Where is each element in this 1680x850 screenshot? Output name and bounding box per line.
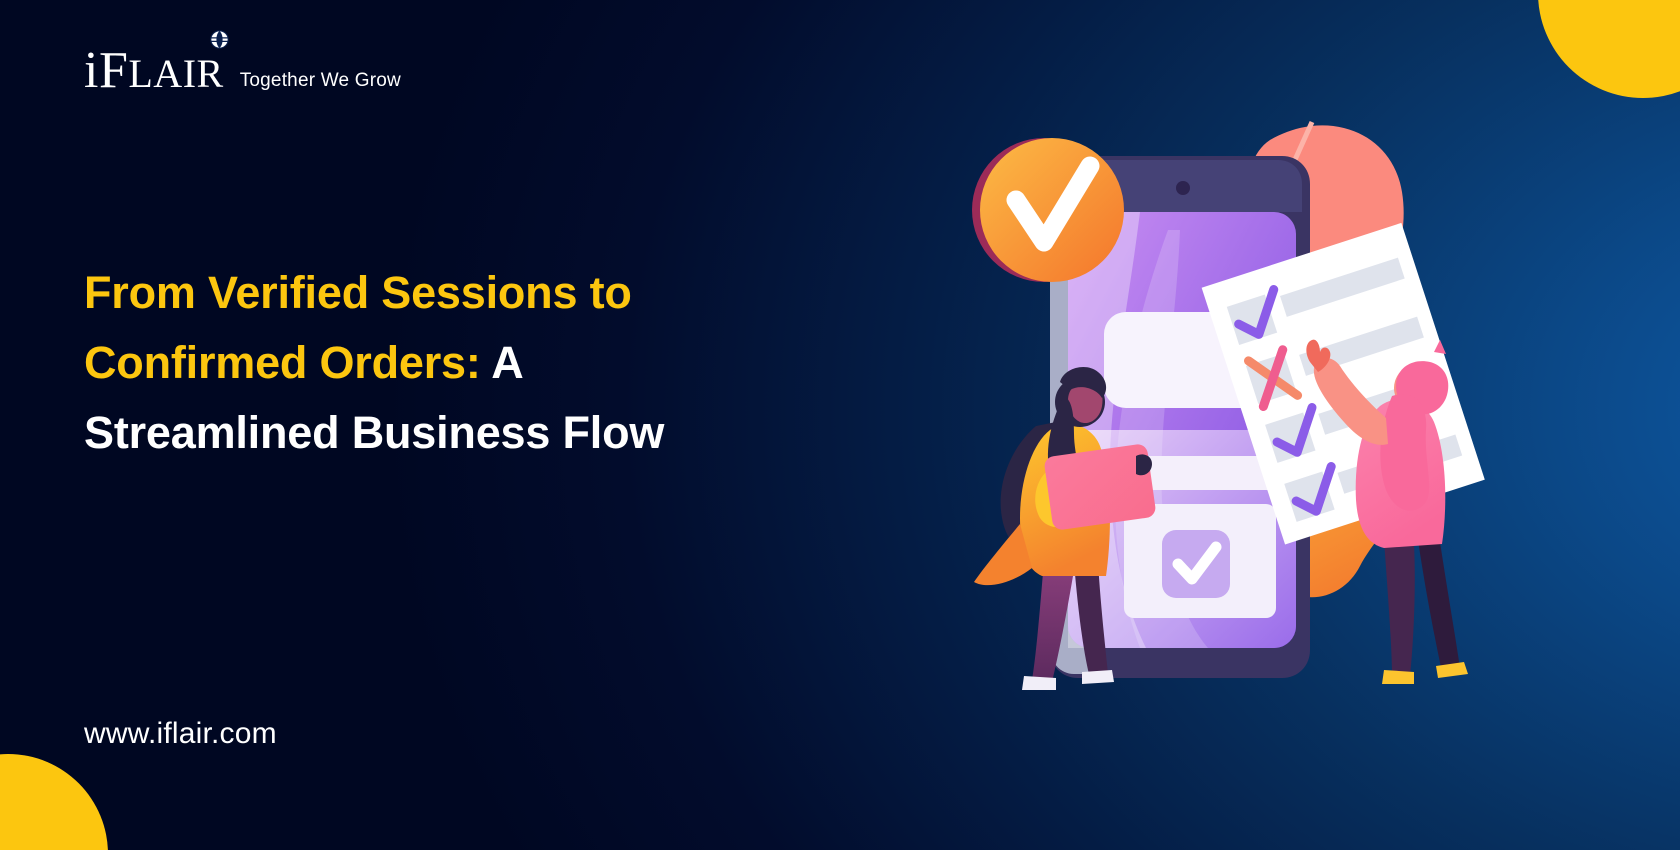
decor-circle-bottom-left [0, 754, 108, 850]
verified-badge-icon [972, 138, 1124, 282]
logo-letter-i: i [84, 42, 99, 99]
phone-camera-dot [1176, 181, 1190, 195]
phone-checkbox [1162, 530, 1230, 598]
logo-wordmark: iFLAIR [84, 46, 224, 99]
promo-banner: iFLAIR Together We Grow From Verified Se… [0, 0, 1680, 850]
globe-icon [210, 30, 229, 49]
logo-letter-f: F [99, 42, 128, 99]
site-url[interactable]: www.iflair.com [84, 717, 277, 751]
logo-tagline: Together We Grow [240, 70, 401, 99]
decor-circle-top-right [1538, 0, 1680, 98]
logo-letters-lair: LAIR [128, 51, 223, 96]
headline-accent: From Verified Sessions to Confirmed Orde… [84, 267, 632, 388]
verified-order-flow-illustration [940, 100, 1520, 700]
page-title: From Verified Sessions to Confirmed Orde… [84, 258, 724, 468]
brand-logo[interactable]: iFLAIR Together We Grow [84, 46, 401, 99]
